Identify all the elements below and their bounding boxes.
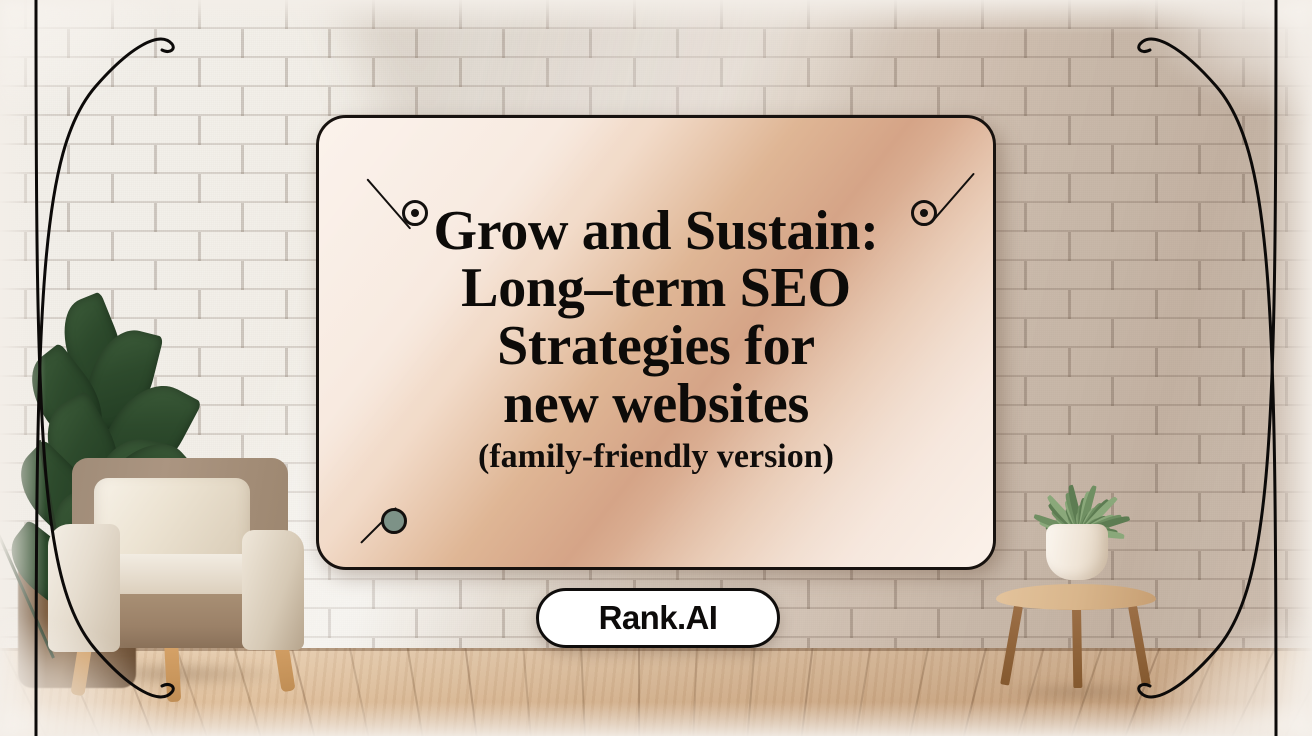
side-table: [996, 568, 1156, 702]
armchair-leg: [164, 640, 181, 703]
poster-board: Grow and Sustain: Long–term SEO Strategi…: [316, 115, 996, 570]
pin-head-icon: [911, 200, 937, 226]
title-line-3: Strategies for: [356, 318, 956, 376]
armchair-arm-right: [242, 530, 304, 650]
pin-head-icon: [402, 200, 428, 226]
poster-content: Grow and Sustain: Long–term SEO Strategi…: [319, 118, 993, 567]
side-table-leg: [1072, 608, 1082, 688]
ceramic-planter: [1046, 524, 1108, 580]
title-line-2: Long–term SEO: [356, 260, 956, 318]
pin-dot-icon: [411, 209, 419, 217]
side-table-leg: [1128, 605, 1151, 685]
poster-canvas: Grow and Sustain: Long–term SEO Strategi…: [0, 0, 1312, 736]
title-line-4: new websites: [356, 376, 956, 434]
side-table-top: [996, 584, 1156, 610]
page-title: Grow and Sustain: Long–term SEO Strategi…: [356, 203, 956, 434]
pin-head-icon: [381, 508, 407, 534]
brand-badge[interactable]: Rank.AI: [536, 588, 780, 648]
brand-name: Rank.AI: [599, 599, 718, 637]
armchair: [36, 458, 322, 690]
title-line-1: Grow and Sustain:: [356, 203, 956, 261]
page-subtitle: (family-friendly version): [478, 439, 834, 476]
armchair-arm-left: [48, 524, 120, 652]
side-table-leg: [1000, 605, 1023, 685]
pin-dot-icon: [920, 209, 928, 217]
